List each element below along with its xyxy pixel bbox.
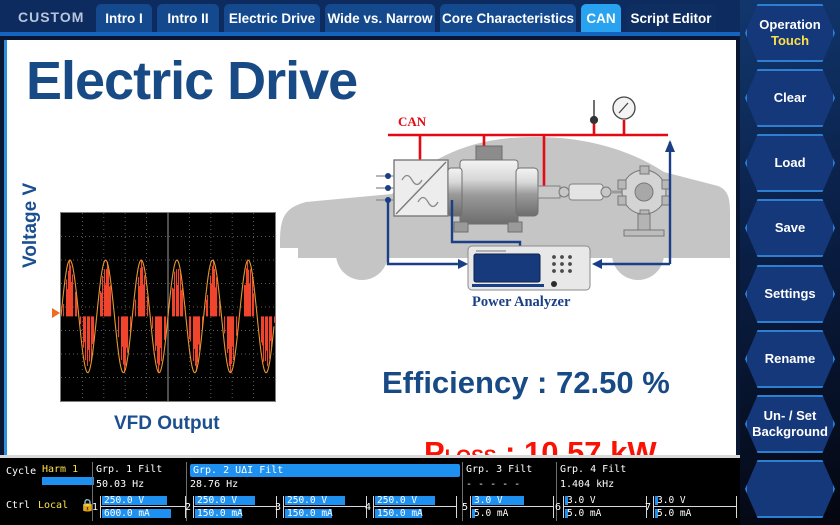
voltage-value: 250.0 V [377, 496, 417, 505]
custom-label: CUSTOM [18, 9, 84, 25]
power-loss-readout: PLOSS : 10.57 kW [424, 435, 657, 455]
current-value: 150.0 mA [287, 509, 333, 518]
rail-button-sublabel: Background [752, 424, 828, 440]
status-channel-meter[interactable]: 250.0 V150.0 mA [373, 494, 457, 520]
power-analyzer-icon [468, 246, 590, 290]
rail-button-save[interactable]: Save [745, 199, 835, 257]
rail-button-label: Operation [759, 17, 820, 33]
status-channel-meter[interactable]: 250.0 V150.0 mA [193, 494, 277, 520]
rail-button-rename[interactable]: Rename [745, 330, 835, 388]
status-channel-meter[interactable]: 3.0 V5.0 mA [563, 494, 647, 520]
status-channel-number: 1 [92, 502, 98, 513]
app-root: CUSTOM Intro IIntro IIElectric DriveWide… [0, 0, 840, 525]
current-value: 5.0 mA [657, 509, 691, 518]
rail-button-un-set[interactable]: Un- / SetBackground [745, 395, 835, 453]
cycle-bar [42, 477, 94, 485]
electric-drive-diagram: CAN [272, 68, 732, 318]
status-group-frequency: 28.76 Hz [190, 479, 238, 490]
voltage-value: 3.0 V [474, 496, 503, 505]
ctrl-value[interactable]: Local [38, 500, 68, 511]
rail-button-label: Rename [765, 351, 816, 367]
tab-intro-i[interactable]: Intro I [96, 4, 152, 32]
current-value: 150.0 mA [197, 509, 243, 518]
status-group-name[interactable]: Grp. 3 Filt [466, 464, 532, 475]
status-group-name[interactable]: Grp. 2 UΔI Filt [190, 464, 460, 477]
waveform-display[interactable] [60, 212, 276, 402]
cycle-label: Cycle [6, 466, 36, 477]
status-group-name[interactable]: Grp. 4 Filt [560, 464, 626, 475]
scope-caption: VFD Output [114, 413, 220, 435]
voltage-value: 250.0 V [197, 496, 237, 505]
tab-wide-vs-narrow[interactable]: Wide vs. Narrow [325, 4, 435, 32]
tab-core-characteristics[interactable]: Core Characteristics [440, 4, 576, 32]
ploss-subscript: LOSS [445, 447, 497, 455]
current-value: 150.0 mA [377, 509, 423, 518]
voltage-value: 250.0 V [104, 496, 144, 505]
rail-button-clear[interactable]: Clear [745, 69, 835, 127]
sensor-icon [591, 100, 598, 123]
rail-button-label: Load [774, 155, 805, 171]
status-group-frequency: 50.03 Hz [96, 479, 144, 490]
rail-button-sublabel: Touch [771, 33, 809, 49]
status-group-frequency: - - - - - [466, 479, 520, 490]
efficiency-value: 72.50 % [556, 365, 670, 400]
rail-button-settings[interactable]: Settings [745, 265, 835, 323]
current-value: 600.0 mA [104, 509, 150, 518]
inverter-icon [394, 160, 448, 216]
status-group-frequency: 1.404 kHz [560, 479, 614, 490]
rail-button-load[interactable]: Load [745, 134, 835, 192]
status-channel-meter[interactable]: 250.0 V600.0 mA [100, 494, 186, 520]
tab-can[interactable]: CAN [581, 4, 621, 32]
rail-button-label: Settings [764, 286, 815, 302]
status-bar: Cycle Harm 1 Ctrl Local 🔒 Grp. 1 Filt50.… [0, 458, 740, 525]
status-group-name[interactable]: Grp. 1 Filt [96, 464, 162, 475]
rail-button-label: Save [775, 220, 805, 236]
efficiency-readout: Efficiency : 72.50 % [382, 365, 670, 401]
ctrl-label: Ctrl [6, 500, 30, 511]
tab-electric-drive[interactable]: Electric Drive [224, 4, 320, 32]
status-channel-number: 4 [365, 502, 371, 513]
function-button-rail: OperationTouchClearLoadSaveSettingsRenam… [740, 0, 840, 525]
status-channel-number: 5 [462, 502, 468, 513]
voltage-value: 3.0 V [567, 496, 596, 505]
tab-script-editor[interactable]: Script Editor [626, 4, 716, 32]
voltage-value: 250.0 V [287, 496, 327, 505]
status-channel-number: 3 [275, 502, 281, 513]
can-label: CAN [398, 114, 427, 129]
rail-button-operation[interactable]: OperationTouch [745, 4, 835, 62]
ploss-value: : 10.57 kW [496, 435, 656, 455]
tab-intro-ii[interactable]: Intro II [157, 4, 219, 32]
status-channel-meter[interactable]: 3.0 V5.0 mA [653, 494, 737, 520]
rail-button-empty-7[interactable] [745, 460, 835, 518]
rail-button-label: Un- / Set [764, 408, 817, 424]
status-channel-number: 7 [645, 502, 651, 513]
power-analyzer-label: Power Analyzer [472, 294, 571, 310]
voltage-value: 3.0 V [657, 496, 686, 505]
status-channel-number: 6 [555, 502, 561, 513]
scope-y-axis-label: Voltage V [20, 183, 42, 268]
status-channel-number: 2 [185, 502, 191, 513]
current-value: 5.0 mA [567, 509, 601, 518]
main-content-panel: Electric Drive [4, 40, 736, 455]
gauge-icon [613, 97, 635, 119]
cycle-value[interactable]: Harm 1 [42, 464, 78, 475]
status-channel-meter[interactable]: 250.0 V150.0 mA [283, 494, 367, 520]
current-value: 5.0 mA [474, 509, 508, 518]
tab-bar: CUSTOM Intro IIntro IIElectric DriveWide… [0, 0, 740, 36]
efficiency-label: Efficiency : [382, 365, 556, 400]
status-channel-meter[interactable]: 3.0 V5.0 mA [470, 494, 554, 520]
trigger-marker-icon [52, 308, 60, 318]
ploss-symbol: P [424, 435, 445, 455]
scope-panel: Voltage V VFD Output [24, 208, 284, 438]
waveform-trace [61, 213, 275, 401]
rail-button-label: Clear [774, 90, 807, 106]
